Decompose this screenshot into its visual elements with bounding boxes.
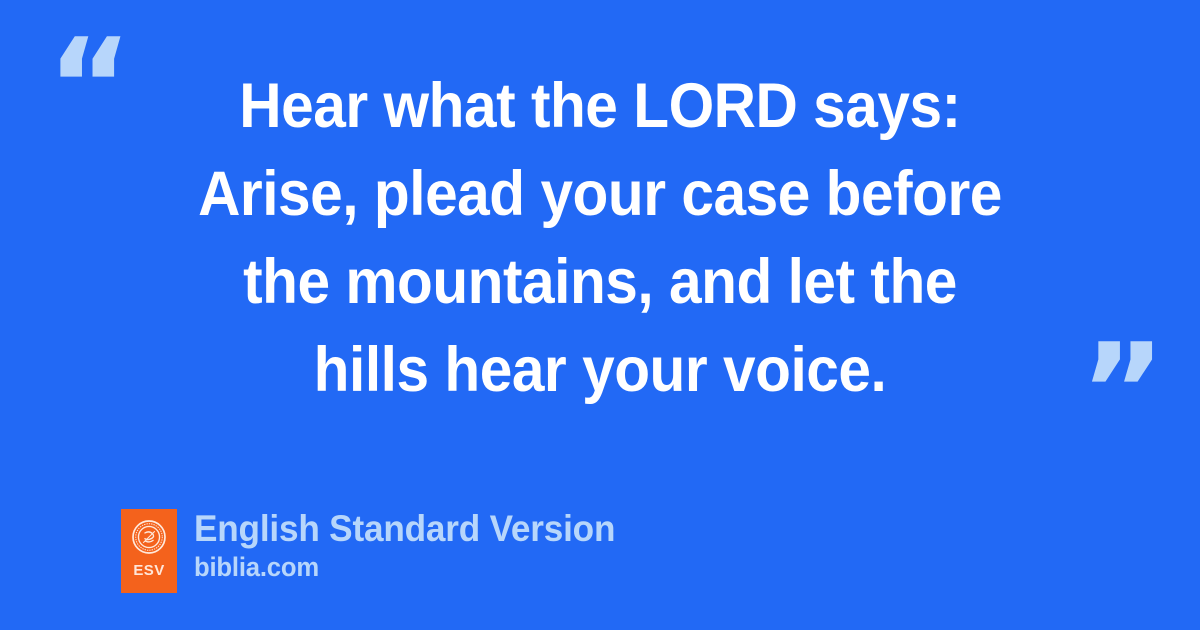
esv-seal-icon (132, 520, 166, 554)
quote-line: hills hear your voice. (135, 326, 1065, 414)
quote-line: Hear what the LORD says: (135, 62, 1065, 150)
bible-verse-card: “ Hear what the LORD says: Arise, plead … (0, 0, 1200, 630)
attribution-text-group: English Standard Version biblia.com (194, 509, 637, 582)
site-name-label[interactable]: biblia.com (194, 552, 615, 582)
quote-text-block: Hear what the LORD says: Arise, plead yo… (135, 62, 1065, 414)
attribution-block: ESV English Standard Version biblia.com (121, 509, 637, 593)
quote-line: the mountains, and let the (135, 238, 1065, 326)
bible-version-name: English Standard Version (194, 509, 615, 549)
esv-logo-badge: ESV (121, 509, 177, 593)
quote-line: Arise, plead your case before (135, 150, 1065, 238)
opening-quote-icon: “ (47, 21, 130, 151)
esv-badge-label: ESV (133, 563, 164, 578)
closing-quote-icon: ” (1080, 326, 1163, 456)
